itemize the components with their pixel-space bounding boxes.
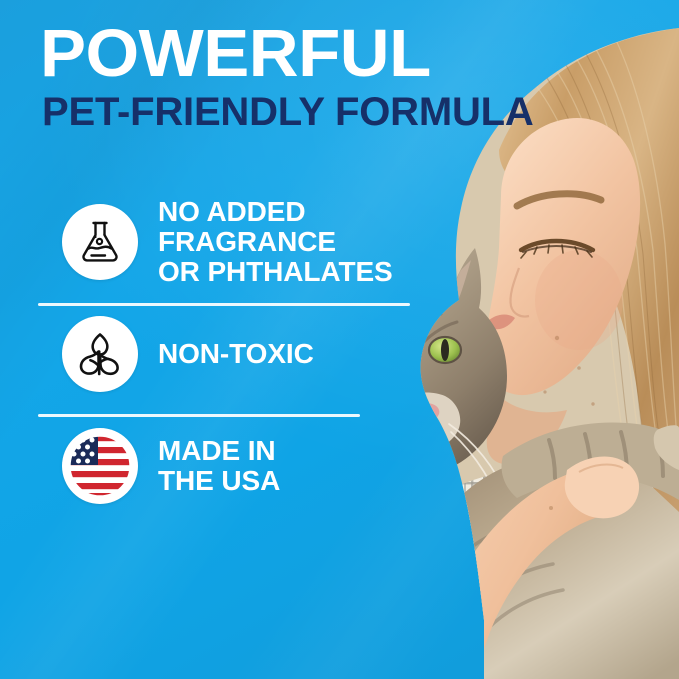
- usa-flag-icon: [62, 428, 138, 504]
- headline-block: POWERFUL PET-FRIENDLY FORMULA: [40, 22, 534, 132]
- feature-item-made-in-usa: MADE IN THE USA: [0, 410, 460, 522]
- promo-banner: POWERFUL PET-FRIENDLY FORMULA: [0, 0, 679, 679]
- feature-list: NO ADDED FRAGRANCE OR PHTHALATES NON-TOX…: [0, 186, 460, 522]
- feature-label: MADE IN THE USA: [158, 436, 280, 496]
- leaf-plant-icon: [62, 316, 138, 392]
- feature-item-non-toxic: NON-TOXIC: [0, 298, 460, 410]
- feature-label: NO ADDED FRAGRANCE OR PHTHALATES: [158, 197, 393, 288]
- page-subtitle: PET-FRIENDLY FORMULA: [42, 92, 534, 132]
- feature-item-fragrance: NO ADDED FRAGRANCE OR PHTHALATES: [0, 186, 460, 298]
- page-title: POWERFUL: [40, 22, 548, 86]
- feature-label: NON-TOXIC: [158, 339, 314, 369]
- flask-icon: [62, 204, 138, 280]
